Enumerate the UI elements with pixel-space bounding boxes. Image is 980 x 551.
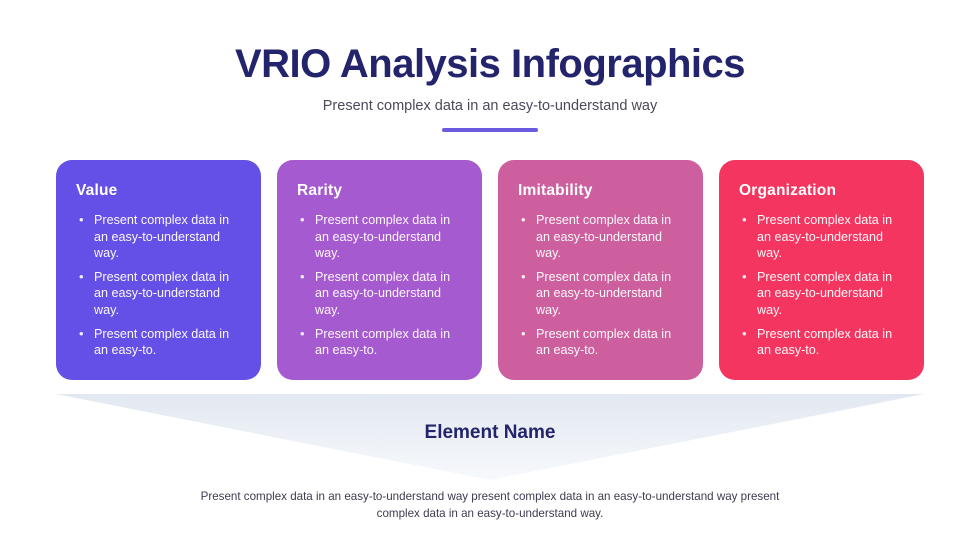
list-item: Present complex data in an easy-to-under… [295, 269, 464, 319]
card-title-rarity: Rarity [297, 182, 464, 200]
list-item: Present complex data in an easy-to-under… [516, 212, 685, 262]
list-item: Present complex data in an easy-to. [516, 326, 685, 359]
vrio-card-value[interactable]: Value Present complex data in an easy-to… [56, 160, 261, 380]
card-title-value: Value [76, 182, 243, 200]
card-bullets-value: Present complex data in an easy-to-under… [74, 212, 243, 359]
list-item: Present complex data in an easy-to-under… [737, 212, 906, 262]
card-bullets-organization: Present complex data in an easy-to-under… [737, 212, 906, 359]
footer-text-block: Present complex data in an easy-to-under… [0, 489, 980, 523]
card-title-imitability: Imitability [518, 182, 685, 200]
list-item: Present complex data in an easy-to-under… [516, 269, 685, 319]
vrio-card-organization[interactable]: Organization Present complex data in an … [719, 160, 924, 380]
list-item: Present complex data in an easy-to-under… [295, 212, 464, 262]
page-title: VRIO Analysis Infographics [0, 0, 980, 86]
vrio-card-rarity[interactable]: Rarity Present complex data in an easy-t… [277, 160, 482, 380]
card-bullets-imitability: Present complex data in an easy-to-under… [516, 212, 685, 359]
list-item: Present complex data in an easy-to. [74, 326, 243, 359]
list-item: Present complex data in an easy-to. [737, 326, 906, 359]
footer-text: Present complex data in an easy-to-under… [180, 489, 800, 523]
funnel-label: Element Name [0, 422, 980, 444]
vrio-cards: Value Present complex data in an easy-to… [56, 160, 924, 380]
card-title-organization: Organization [739, 182, 906, 200]
vrio-card-imitability[interactable]: Imitability Present complex data in an e… [498, 160, 703, 380]
list-item: Present complex data in an easy-to. [295, 326, 464, 359]
card-bullets-rarity: Present complex data in an easy-to-under… [295, 212, 464, 359]
page-subtitle: Present complex data in an easy-to-under… [0, 98, 980, 114]
list-item: Present complex data in an easy-to-under… [737, 269, 906, 319]
list-item: Present complex data in an easy-to-under… [74, 212, 243, 262]
title-divider [442, 128, 538, 132]
slide-root: VRIO Analysis Infographics Present compl… [0, 0, 980, 551]
list-item: Present complex data in an easy-to-under… [74, 269, 243, 319]
